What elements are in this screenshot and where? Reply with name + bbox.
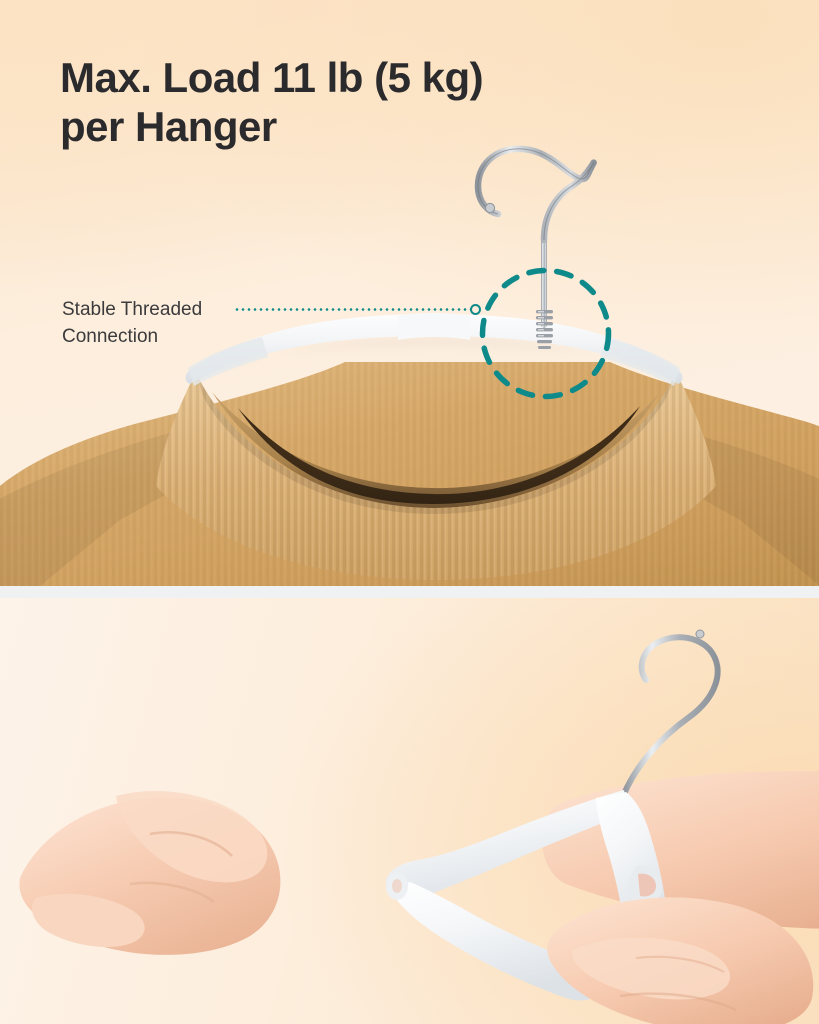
callout-dashed-circle bbox=[479, 267, 612, 400]
panel-divider bbox=[0, 586, 819, 598]
infographic-page: Max. Load 11 lb (5 kg) per Hanger Stable… bbox=[0, 0, 819, 1024]
panel-quality-materials: Quality Materials Sturdy ABS plastic and… bbox=[0, 598, 819, 1024]
callout-label-threaded-connection: Stable Threaded Connection bbox=[62, 297, 202, 351]
callout-leader-line bbox=[234, 308, 472, 311]
page-title-max-load: Max. Load 11 lb (5 kg) per Hanger bbox=[60, 53, 483, 151]
panel-max-load: Max. Load 11 lb (5 kg) per Hanger Stable… bbox=[0, 0, 819, 586]
bottom-panel-artwork bbox=[0, 598, 819, 1024]
